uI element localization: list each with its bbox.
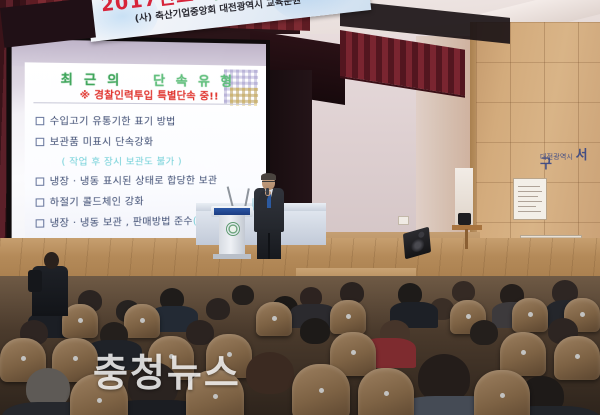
auditorium-seat bbox=[358, 368, 414, 415]
checkbox-icon bbox=[36, 219, 45, 227]
slide-bullet-1-text: 수입고기 유통기한 표기 방법 bbox=[50, 116, 176, 128]
slide-bullet-3-text: 냉장 · 냉동 표시된 상태로 합당한 보관 bbox=[50, 175, 218, 188]
slide-bullet-4: 하절기 콜드체인 강화 bbox=[36, 193, 144, 209]
auditorium-seat bbox=[512, 298, 548, 332]
slide-subtitle: ※ 경찰인력투입 특별단속 중!! bbox=[49, 86, 248, 103]
slide-bullet-1: 수입고기 유통기한 표기 방법 bbox=[36, 113, 176, 128]
presenter-hair bbox=[261, 173, 276, 180]
auditorium-seat bbox=[330, 300, 366, 334]
slide-bullet-3: 냉장 · 냉동 표시된 상태로 합당한 보관 bbox=[36, 172, 218, 188]
audience-head bbox=[452, 281, 475, 302]
city-logo: 대전광역시 서구 bbox=[540, 152, 592, 174]
speaker-tweeter bbox=[418, 231, 425, 239]
auditorium-seat bbox=[474, 370, 530, 415]
camera-equipment bbox=[458, 213, 471, 225]
watermark: 충청뉴스 bbox=[93, 342, 241, 397]
standing-attendee-head bbox=[44, 252, 59, 269]
slide-bullet-5-text: 냉장 · 냉동 보관 , 판매방법 준수 bbox=[50, 216, 193, 230]
presenter-legs bbox=[257, 229, 281, 259]
checkbox-icon bbox=[36, 198, 45, 206]
slide-note: ( 작업 후 장시 보관도 불가 ) bbox=[62, 153, 182, 168]
checkbox-icon bbox=[36, 117, 45, 125]
audience-area bbox=[0, 276, 600, 415]
slide-bullet-2-text: 보관품 미표시 단속강화 bbox=[50, 137, 154, 148]
wall-notice-sign bbox=[513, 178, 547, 220]
side-table-leg bbox=[465, 229, 468, 249]
audience-head bbox=[232, 285, 254, 305]
wall-power-socket bbox=[398, 216, 409, 225]
lecture-hall-photo: 대전광역시 서구 최 근 의 단 속 유 형 ※ 경찰인력투입 특별단속 중!!… bbox=[0, 0, 600, 415]
shoulder-bag bbox=[28, 270, 42, 292]
auditorium-seat bbox=[554, 336, 600, 380]
audience-head bbox=[246, 352, 294, 394]
auditorium-seat bbox=[292, 364, 350, 415]
audience-head bbox=[470, 320, 498, 345]
audience-head bbox=[300, 318, 330, 344]
auditorium-seat bbox=[256, 302, 292, 336]
audience-head bbox=[418, 354, 470, 402]
standing-attendee bbox=[28, 252, 72, 314]
podium-foot bbox=[213, 254, 251, 259]
checkbox-icon bbox=[36, 177, 45, 185]
speaker-cone bbox=[411, 237, 425, 253]
slide-bullet-2: 보관품 미표시 단속강화 bbox=[36, 134, 154, 149]
checkbox-icon bbox=[36, 138, 45, 146]
glasses-icon bbox=[262, 181, 275, 185]
handheld-microphone bbox=[266, 188, 269, 195]
podium-emblem bbox=[226, 222, 240, 236]
podium-name-panel bbox=[214, 208, 250, 215]
audience-head bbox=[206, 298, 230, 320]
auditorium-seat bbox=[124, 304, 160, 338]
slide-bullet-4-text: 하절기 콜드체인 강화 bbox=[50, 196, 144, 208]
